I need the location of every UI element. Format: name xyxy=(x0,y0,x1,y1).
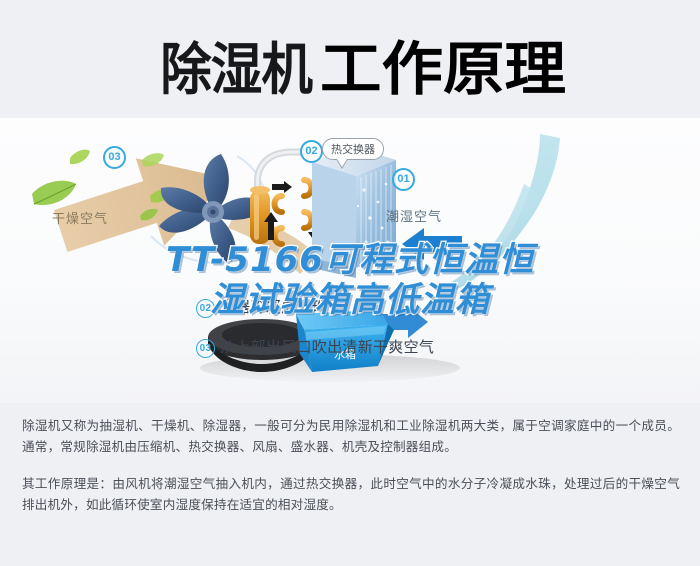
diagram-step-03-text: 从上部出风口吹出清新干爽空气 xyxy=(220,338,434,356)
page-title-part2: 工作原理 xyxy=(320,22,566,106)
body-paragraph-1: 除湿机又称为抽湿机、干燥机、除湿器，一般可分为民用除湿机和工业除湿机两大类，属于… xyxy=(22,415,680,457)
page-title: 除湿机工作原理 xyxy=(0,22,700,106)
dehumidifier-diagram: 03 02 01 干燥空气 潮湿空气 水箱 热交换器 02发器冷凝成水珠 03从… xyxy=(0,118,700,403)
diagram-step-02: 02发器冷凝成水珠 xyxy=(196,296,327,318)
diagram-step-list: 02发器冷凝成水珠 03从上部出风口吹出清新干爽空气 xyxy=(0,118,700,403)
page-title-part1: 除湿机 xyxy=(161,25,313,106)
diagram-step-03: 03从上部出风口吹出清新干爽空气 xyxy=(196,336,434,358)
body-paragraph-2: 其工作原理是：由风机将潮湿空气抽入机内，通过热交换器，此时空气中的水分子冷凝成水… xyxy=(22,473,680,515)
diagram-step-03-number: 03 xyxy=(196,339,215,358)
diagram-step-02-number: 02 xyxy=(196,299,215,318)
poster-root: 除湿机工作原理 xyxy=(0,0,700,566)
body-copy: 除湿机又称为抽湿机、干燥机、除湿器，一般可分为民用除湿机和工业除湿机两大类，属于… xyxy=(22,415,680,531)
diagram-step-02-text: 发器冷凝成水珠 xyxy=(220,298,327,316)
